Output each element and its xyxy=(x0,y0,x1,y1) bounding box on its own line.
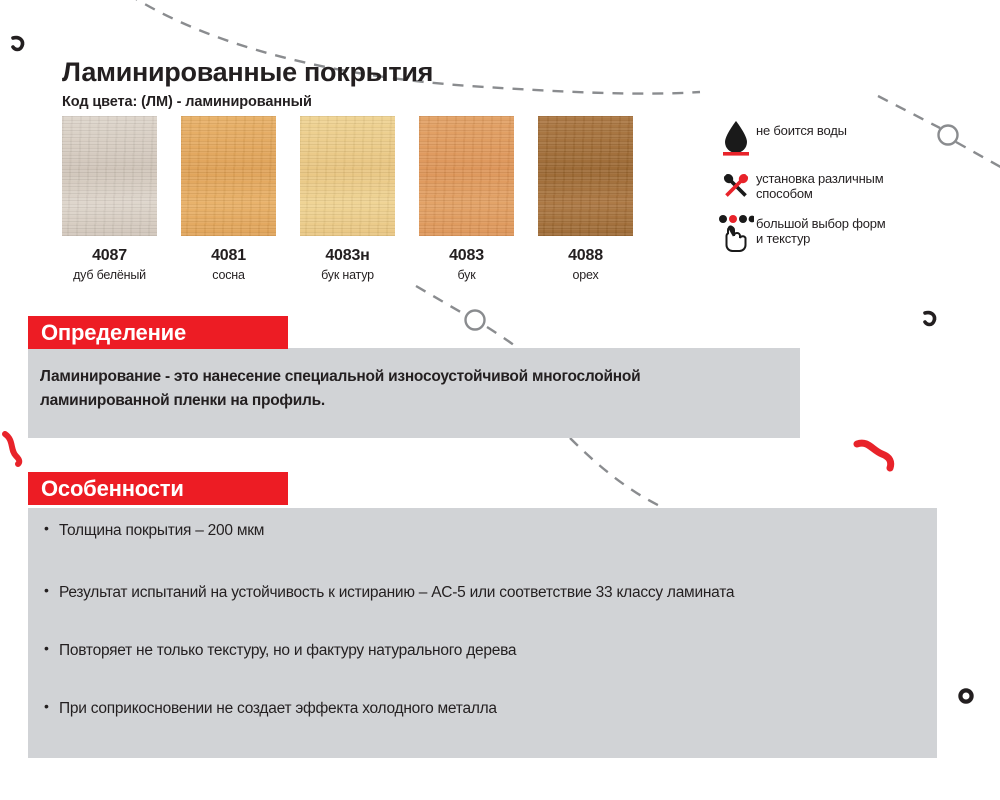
color-swatch-row: 4087дуб белёный4081сосна4083нбук натур40… xyxy=(62,116,633,282)
wood-swatch-icon xyxy=(62,116,157,236)
definition-text: Ламинирование - это нанесение специально… xyxy=(40,365,740,413)
feature-variety: большой выбор форми текстур xyxy=(716,214,886,252)
swatch-name: бук натур xyxy=(300,268,395,282)
swatch-name: бук xyxy=(419,268,514,282)
dashed-curve-right-2 xyxy=(956,142,1000,170)
swatch-code: 4087 xyxy=(62,247,157,265)
wood-swatch-icon xyxy=(300,116,395,236)
feature-bullet: При соприкосновении не создает эффекта х… xyxy=(44,698,924,720)
feature-waterproof-label: не боится воды xyxy=(756,118,847,139)
page-subtitle: Код цвета: (ЛМ) - ламинированный xyxy=(62,94,433,110)
water-drop-icon xyxy=(716,118,756,158)
feature-bullet: Толщина покрытия – 200 мкм xyxy=(44,520,924,542)
color-swatch: 4081сосна xyxy=(181,116,276,282)
feature-install-label: установка различнымспособом xyxy=(756,169,883,201)
wrench-screwdriver-icon xyxy=(716,169,756,203)
infographic-page: Ламинированные покрытия Код цвета: (ЛМ) … xyxy=(0,0,1000,800)
wood-swatch-icon xyxy=(419,116,514,236)
swatch-name: сосна xyxy=(181,268,276,282)
comma-mark-top-left xyxy=(13,38,23,50)
color-swatch: 4083бук xyxy=(419,116,514,282)
wood-swatch-icon xyxy=(538,116,633,236)
feature-bullet: Повторяет не только текстуру, но и факту… xyxy=(44,640,924,662)
red-squiggle-right xyxy=(857,443,891,468)
swatch-name: орех xyxy=(538,268,633,282)
feature-bullet: Результат испытаний на устойчивость к ис… xyxy=(44,582,924,604)
feature-icon-list: не боится воды установка различнымспособ… xyxy=(716,118,886,263)
color-swatch: 4088орех xyxy=(538,116,633,282)
swatch-code: 4088 xyxy=(538,247,633,265)
color-swatch: 4087дуб белёный xyxy=(62,116,157,282)
ring-dot-bottom-right xyxy=(960,690,971,701)
features-list: Толщина покрытия – 200 мкмРезультат испы… xyxy=(44,520,924,760)
wood-swatch-icon xyxy=(181,116,276,236)
definition-badge: Определение xyxy=(28,316,288,349)
swatch-code: 4083н xyxy=(300,247,395,265)
page-title: Ламинированные покрытия xyxy=(62,58,433,88)
feature-install: установка различнымспособом xyxy=(716,169,886,203)
circle-node-right xyxy=(939,126,958,145)
red-squiggle-left xyxy=(5,434,19,464)
dashed-curve-middle-c xyxy=(570,438,664,508)
dashed-curve-middle-a xyxy=(416,286,464,314)
features-badge: Особенности xyxy=(28,472,288,505)
swatch-code: 4083 xyxy=(419,247,514,265)
comma-mark-right xyxy=(925,313,935,325)
dashed-curve-right xyxy=(878,96,940,128)
swatch-code: 4081 xyxy=(181,247,276,265)
header: Ламинированные покрытия Код цвета: (ЛМ) … xyxy=(62,58,433,110)
swatch-name: дуб белёный xyxy=(62,268,157,282)
feature-waterproof: не боится воды xyxy=(716,118,886,158)
color-swatch: 4083нбук натур xyxy=(300,116,395,282)
feature-variety-label: большой выбор форми текстур xyxy=(756,214,886,246)
circle-node-middle xyxy=(466,311,485,330)
pointing-hand-dots-icon xyxy=(716,214,756,252)
